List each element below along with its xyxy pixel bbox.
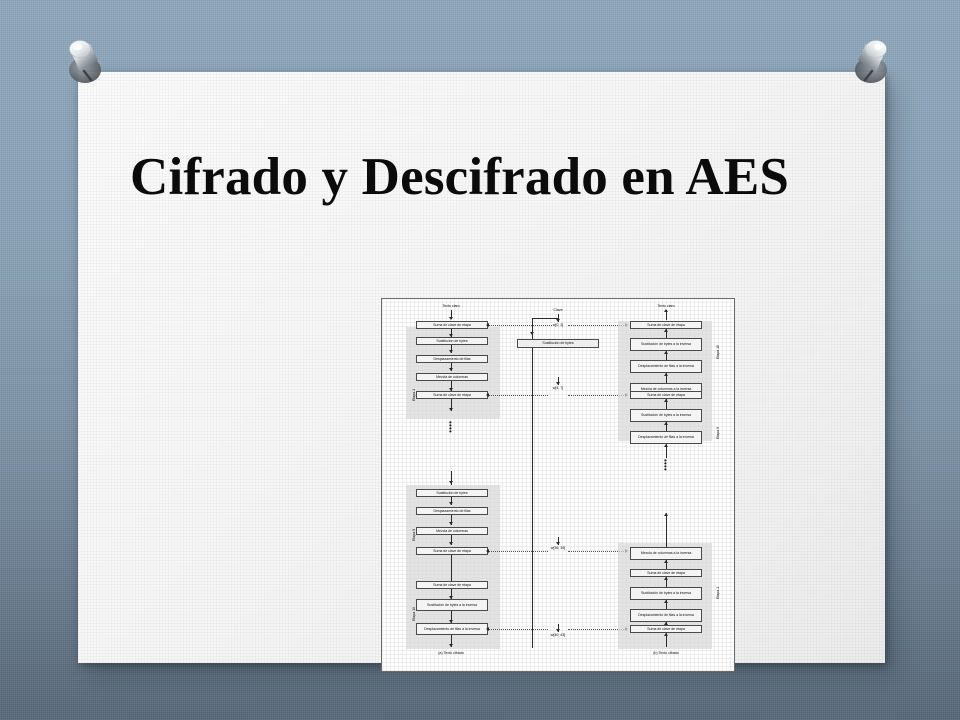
label-encrypt-plaintext: Texto claro: [442, 304, 459, 308]
arrowhead-d10: [664, 577, 668, 580]
keyfeed-enc-s9-head: [486, 549, 489, 553]
box-encrypt-s1-mixcolumns: Mezcla de columnas: [416, 373, 488, 381]
key-schedule-w4: w[4, 7]: [553, 386, 564, 390]
box-key-subbytes: Sustitución de bytes: [517, 339, 599, 348]
arrowhead-e5: [449, 408, 453, 411]
box-decrypt-s1-addroundkey: Suma de clave de etapa: [630, 569, 702, 577]
arrowhead-key-w36: [556, 542, 560, 545]
key-bus-top: [532, 318, 558, 319]
aes-cipher-decipher-diagram: Texto claro Clave Texto claro Suma de cl…: [381, 298, 735, 672]
arrowhead-d2: [664, 351, 668, 354]
push-pin-left-icon: [58, 30, 112, 88]
arrowhead-e3: [449, 368, 453, 371]
label-decrypt-plaintext: Texto claro: [657, 304, 674, 308]
keyfeed-enc-s9: [488, 551, 548, 552]
keyfeed-enc-pre: [488, 325, 552, 326]
arrowhead-d9: [664, 560, 668, 563]
caption-decrypt: (b) Texto cifrado: [653, 651, 679, 655]
arrow-e10: [451, 555, 452, 581]
arrowhead-decrypt-out: [664, 309, 668, 312]
arrowhead-d1: [664, 329, 668, 332]
box-encrypt-s10-invsubbytes: Sustitución de bytes a la inversa: [416, 599, 488, 611]
box-decrypt-addroundkey-pre: Suma de clave de etapa: [630, 321, 702, 329]
stage-label-encrypt-10: Etapa 10: [412, 607, 416, 621]
arrowhead-e2: [449, 350, 453, 353]
box-encrypt-addroundkey-pre: Suma de clave de etapa: [416, 321, 488, 329]
box-decrypt-s1-invsubbytes: Sustitución de bytes a la inversa: [630, 587, 702, 600]
box-encrypt-s1-shiftrows: Desplazamiento de filas: [416, 355, 488, 363]
box-decrypt-s1-invmixcolumns: Mezcla de columnas a la inversa: [630, 547, 702, 560]
stage-label-encrypt-9: Etapa 9: [412, 529, 416, 541]
slide-paper: Cifrado y Descifrado en AES Texto claro …: [78, 72, 885, 663]
caption-encrypt: (a) Texto cifrado: [438, 651, 464, 655]
ellipsis-decrypt: ••••: [664, 459, 667, 471]
keyfeed-enc-s1-head: [486, 393, 489, 397]
stage-label-decrypt-10: Etapa 10: [716, 345, 720, 359]
arrowhead-encrypt-in: [449, 317, 453, 320]
arrowhead-d6: [664, 422, 668, 425]
keyfeed-enc-pre-head: [486, 323, 489, 327]
box-decrypt-addroundkey-post: Suma de clave de etapa: [630, 625, 702, 633]
arrowhead-d5: [664, 399, 668, 402]
box-decrypt-s10-addroundkey: Suma de clave de etapa: [630, 391, 702, 399]
keyfeed-enc-s10: [488, 629, 548, 630]
box-decrypt-s10-invsubbytes: Sustitución de bytes a la inversa: [630, 338, 702, 351]
key-schedule-w0: w[0, 3]: [553, 323, 564, 327]
stage-label-decrypt-9: Etapa 9: [716, 427, 720, 439]
stage-label-decrypt-1: Etapa 1: [716, 587, 720, 599]
box-encrypt-s1-addroundkey: Suma de clave de etapa: [416, 391, 488, 399]
key-bus-vertical: [532, 318, 533, 648]
arrowhead-d13: [664, 633, 668, 636]
arrowhead-e13: [449, 644, 453, 647]
box-decrypt-s1-invshiftrows: Desplazamiento de filas a la inversa: [630, 609, 702, 622]
box-encrypt-s9-addroundkey: Suma de clave de etapa: [416, 547, 488, 555]
arrowhead-d11: [664, 600, 668, 603]
box-encrypt-s10-addroundkey: Suma de clave de etapa: [416, 581, 488, 589]
label-key: Clave: [553, 308, 562, 312]
arrowhead-key-w4: [556, 382, 560, 385]
arrowhead-key-w40: [556, 629, 560, 632]
key-schedule-w36: w[36, 39]: [551, 546, 566, 550]
push-pin-right-icon: [846, 30, 900, 88]
box-encrypt-s9-mixcolumns: Mezcla de columnas: [416, 527, 488, 535]
keyfeed-enc-s1: [488, 395, 548, 396]
arrowhead-e6: [449, 481, 453, 484]
box-decrypt-s9-invsubbytes: Sustitución de bytes a la inversa: [630, 409, 702, 422]
key-schedule-w40: w[40, 43]: [551, 633, 566, 637]
arrowhead-e9: [449, 542, 453, 545]
box-encrypt-s9-subbytes: Sustitución de bytes: [416, 489, 488, 497]
page-title: Cifrado y Descifrado en AES: [130, 150, 850, 206]
arrowhead-e7: [449, 502, 453, 505]
arrowhead-d7: [664, 444, 668, 447]
keyfeed-enc-s10-head: [486, 627, 489, 631]
box-decrypt-s9-invshiftrows: Desplazamiento de filas a la inversa: [630, 431, 702, 444]
arrowhead-e8: [449, 522, 453, 525]
box-encrypt-s9-shiftrows: Desplazamiento de filas: [416, 507, 488, 515]
slide-stage: Cifrado y Descifrado en AES Texto claro …: [0, 0, 960, 720]
arrowhead-key-sub-in: [530, 332, 534, 335]
ellipsis-encrypt: ••••: [449, 421, 452, 433]
box-decrypt-s10-invshiftrows: Desplazamiento de filas a la inversa: [630, 360, 702, 373]
stage-label-encrypt-1: Etapa 1: [412, 389, 416, 401]
arrow-d8: [666, 513, 667, 547]
arrowhead-d3: [664, 373, 668, 376]
arrowhead-d8: [664, 513, 668, 516]
box-encrypt-s10-invshiftrows: Desplazamiento de filas a la inversa: [416, 623, 488, 635]
arrowhead-key-in: [556, 319, 560, 322]
box-encrypt-s1-subbytes: Sustitución de bytes: [416, 337, 488, 345]
